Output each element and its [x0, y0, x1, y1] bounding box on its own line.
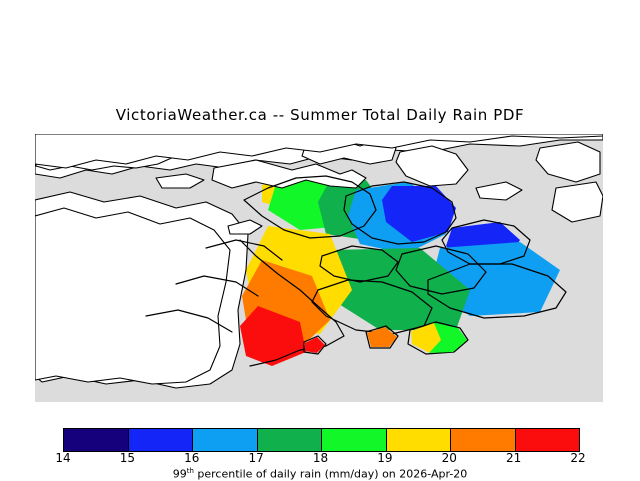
- weather-map-page: VictoriaWeather.ca -- Summer Total Daily…: [0, 0, 640, 480]
- page-title: VictoriaWeather.ca -- Summer Total Daily…: [0, 106, 640, 124]
- colorbar-tick-19: 19: [377, 451, 392, 465]
- colorbar-tick-16: 16: [184, 451, 199, 465]
- caption-rest: percentile of daily rain (mm/day) on 202…: [194, 468, 467, 481]
- colorbar-segment-19-20: [387, 429, 452, 451]
- colorbar-segment-18-19: [322, 429, 387, 451]
- colorbar-tick-17: 17: [248, 451, 263, 465]
- colorbar-tick-14: 14: [55, 451, 70, 465]
- colorbar-caption: 99th percentile of daily rain (mm/day) o…: [0, 467, 640, 481]
- map-canvas: [0, 130, 640, 402]
- land-southwest-interior: [35, 208, 230, 384]
- colorbar-segment-17-18: [258, 429, 323, 451]
- colorbar-tick-22: 22: [570, 451, 585, 465]
- caption-prefix: 99: [173, 468, 187, 481]
- colorbar-tick-labels: 141516171819202122: [0, 451, 640, 467]
- colorbar-segment-14-15: [64, 429, 129, 451]
- colorbar-segment-15-16: [129, 429, 194, 451]
- colorbar-segment-21-22: [516, 429, 580, 451]
- map-panel: [0, 130, 640, 402]
- colorbar-tick-18: 18: [313, 451, 328, 465]
- colorbar-tick-15: 15: [120, 451, 135, 465]
- colorbar-segment-16-17: [193, 429, 258, 451]
- colorbar-segment-20-21: [451, 429, 516, 451]
- colorbar-panel: 141516171819202122 99th percentile of da…: [0, 424, 640, 480]
- colorbar-tick-20: 20: [442, 451, 457, 465]
- colorbar-tick-21: 21: [506, 451, 521, 465]
- colorbar: [63, 428, 580, 452]
- caption-superscript: th: [187, 467, 194, 475]
